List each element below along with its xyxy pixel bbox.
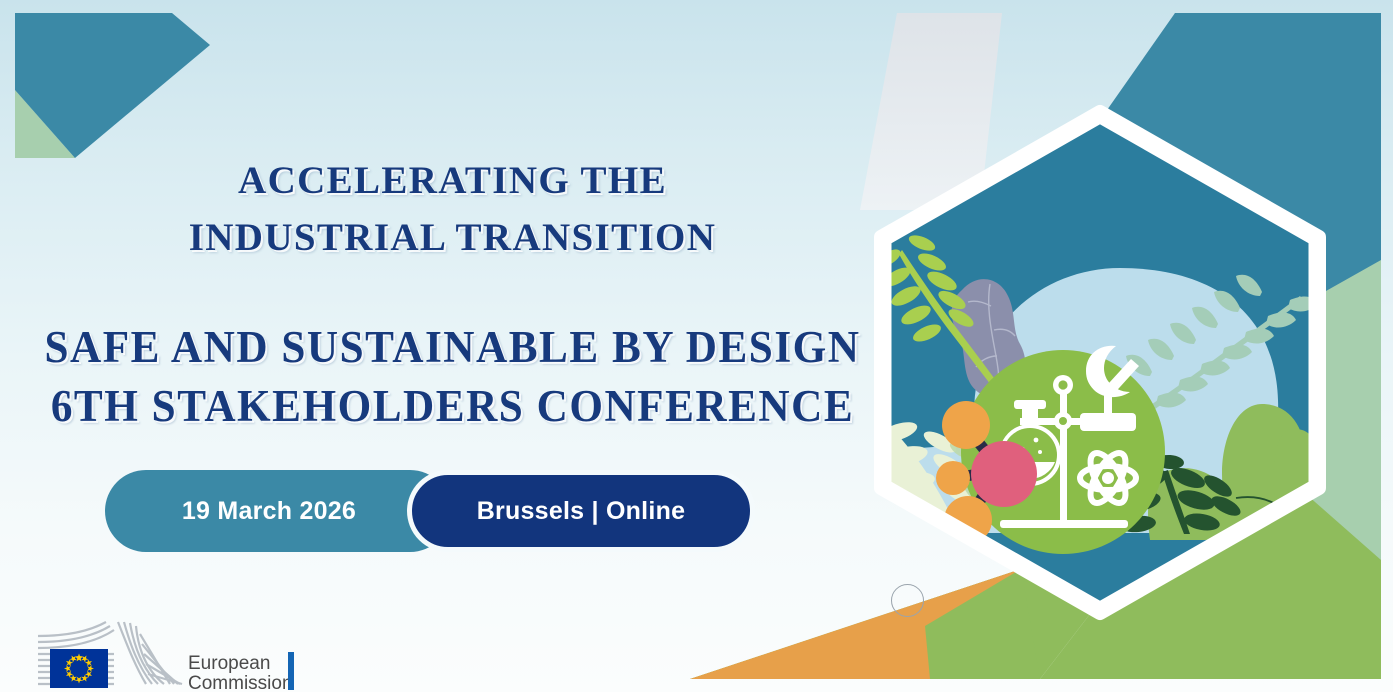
event-date-badge: 19 March 2026 <box>105 470 451 552</box>
page-subtitle-line-1: SAFE AND SUSTAINABLE BY DESIGN <box>18 318 887 377</box>
logo-text-line-2: Commission <box>188 673 293 692</box>
headline-group: ACCELERATING THE INDUSTRIAL TRANSITION S… <box>0 152 905 436</box>
logo-text-line-1: European <box>188 653 270 674</box>
page-title-line-2: INDUSTRIAL TRANSITION <box>0 209 905 266</box>
event-location-badge: Brussels | Online <box>407 470 755 552</box>
page-title-line-1: ACCELERATING THE <box>0 152 905 209</box>
swoosh-right-icon <box>118 622 182 684</box>
logo-accent-bar <box>288 652 294 690</box>
event-details: 19 March 2026 Brussels | Online <box>105 470 755 552</box>
event-banner: ACCELERATING THE INDUSTRIAL TRANSITION S… <box>0 0 1393 692</box>
european-commission-logo: European Commission <box>22 612 302 692</box>
eu-flag-icon <box>50 649 108 688</box>
top-left-decoration <box>15 13 210 158</box>
headline-spacer <box>0 266 905 318</box>
empty-circle-marker <box>891 584 924 617</box>
page-subtitle-line-2: 6TH STAKEHOLDERS CONFERENCE <box>18 377 887 436</box>
